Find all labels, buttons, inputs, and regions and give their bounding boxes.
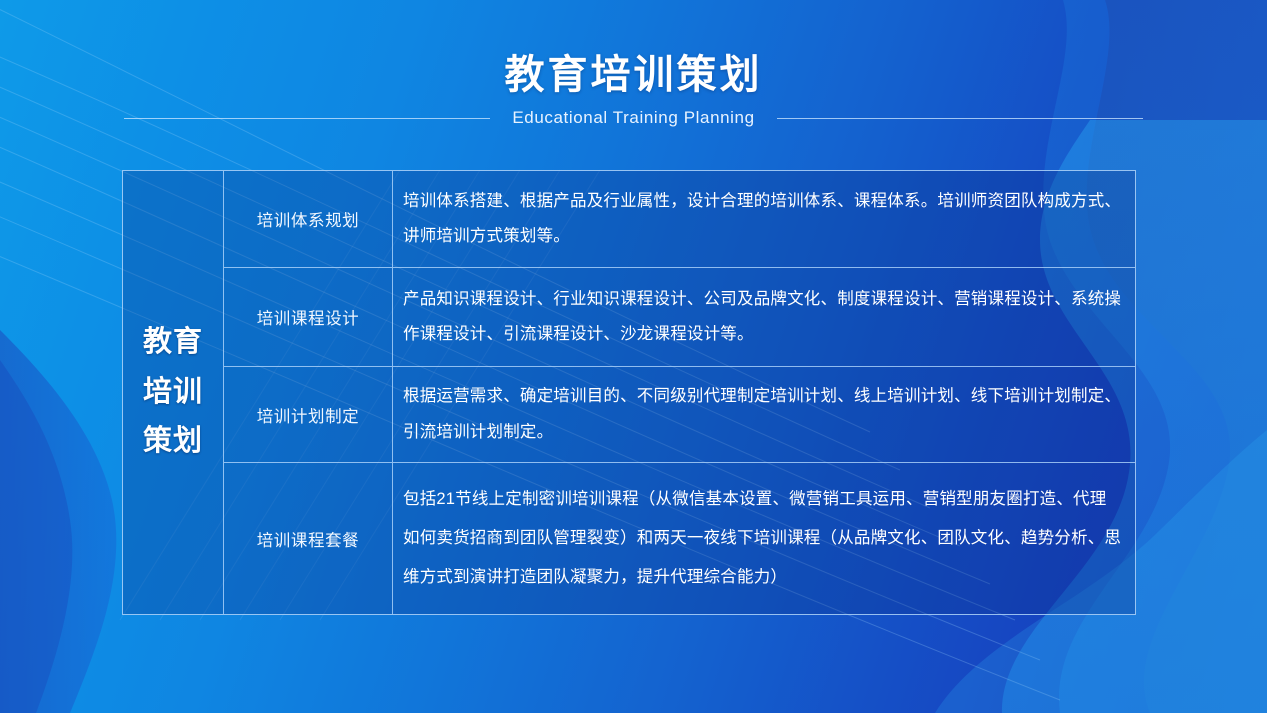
table-topic-cell: 培训计划制定: [224, 367, 393, 462]
table-topic-label: 培训体系规划: [257, 207, 360, 231]
page-subtitle: Educational Training Planning: [490, 108, 776, 128]
table-row: 培训课程套餐 包括21节线上定制密训培训课程（从微信基本设置、微营销工具运用、营…: [224, 463, 1135, 614]
slide-header: 教育培训策划 Educational Training Planning: [0, 52, 1267, 128]
subtitle-row: Educational Training Planning: [0, 108, 1267, 128]
table-topic-label: 培训课程设计: [257, 305, 360, 329]
table-row: 培训课程设计 产品知识课程设计、行业知识课程设计、公司及品牌文化、制度课程设计、…: [224, 268, 1135, 367]
subtitle-rule-left: [124, 118, 490, 119]
table-topic-cell: 培训体系规划: [224, 171, 393, 267]
table-detail-cell: 包括21节线上定制密训培训课程（从微信基本设置、微营销工具运用、营销型朋友圈打造…: [393, 463, 1135, 614]
table-topic-label: 培训计划制定: [257, 403, 360, 427]
table-topic-cell: 培训课程套餐: [224, 463, 393, 614]
slide-canvas: 教育培训策划 Educational Training Planning 教育培…: [0, 0, 1267, 713]
table-detail-cell: 产品知识课程设计、行业知识课程设计、公司及品牌文化、制度课程设计、营销课程设计、…: [393, 268, 1135, 366]
table-topic-cell: 培训课程设计: [224, 268, 393, 366]
table-row: 培训计划制定 根据运营需求、确定培训目的、不同级别代理制定培训计划、线上培训计划…: [224, 367, 1135, 463]
table-row: 培训体系规划 培训体系搭建、根据产品及行业属性，设计合理的培训体系、课程体系。培…: [224, 171, 1135, 268]
table-rows: 培训体系规划 培训体系搭建、根据产品及行业属性，设计合理的培训体系、课程体系。培…: [224, 171, 1135, 614]
subtitle-rule-right: [777, 118, 1143, 119]
table-detail-text: 产品知识课程设计、行业知识课程设计、公司及品牌文化、制度课程设计、营销课程设计、…: [403, 282, 1123, 353]
table-detail-cell: 培训体系搭建、根据产品及行业属性，设计合理的培训体系、课程体系。培训师资团队构成…: [393, 171, 1135, 267]
table-detail-text: 根据运营需求、确定培训目的、不同级别代理制定培训计划、线上培训计划、线下培训计划…: [403, 379, 1123, 450]
table-detail-cell: 根据运营需求、确定培训目的、不同级别代理制定培训计划、线上培训计划、线下培训计划…: [393, 367, 1135, 462]
table-topic-label: 培训课程套餐: [257, 527, 360, 551]
table-detail-text: 培训体系搭建、根据产品及行业属性，设计合理的培训体系、课程体系。培训师资团队构成…: [403, 184, 1123, 255]
table-detail-text: 包括21节线上定制密训培训课程（从微信基本设置、微营销工具运用、营销型朋友圈打造…: [403, 480, 1123, 596]
table-category-cell: 教育培训策划: [123, 171, 224, 614]
table-category-label: 教育培训策划: [143, 318, 204, 468]
content-table: 教育培训策划 培训体系规划 培训体系搭建、根据产品及行业属性，设计合理的培训体系…: [122, 170, 1136, 615]
page-title: 教育培训策划: [0, 52, 1267, 98]
